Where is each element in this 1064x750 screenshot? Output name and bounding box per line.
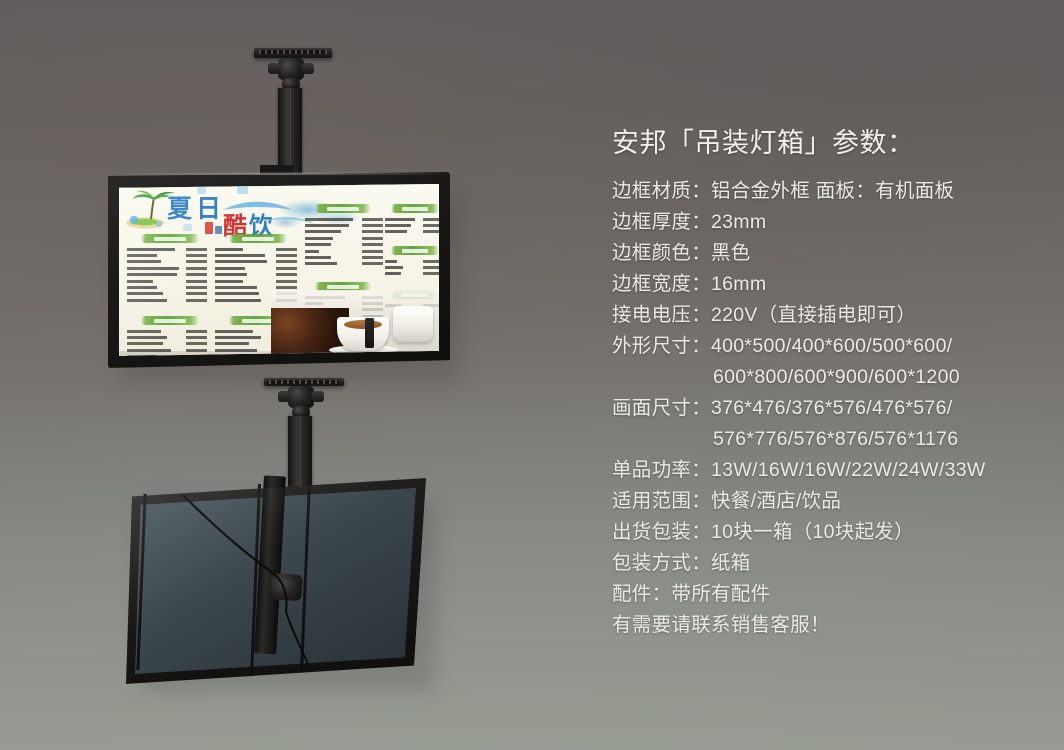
spec-line: 边框厚度：23mm [612, 207, 1052, 238]
section-banner-4b [391, 246, 439, 255]
spec-line: 单品功率：13W/16W/16W/22W/24W/33W [612, 455, 1052, 486]
menu-rows-4b [385, 258, 439, 277]
section-banner-4 [391, 204, 439, 213]
mount-plate-screw-holes [259, 50, 327, 54]
spec-line: 包装方式：纸箱 [612, 548, 1052, 579]
ice-cube-icon-1 [197, 187, 206, 194]
spec-line-list: 边框材质：铝合金外框 面板：有机面板边框厚度：23mm边框颜色：黑色边框宽度：1… [612, 176, 1052, 641]
spec-line: 外形尺寸：400*500/400*600/500*600/ [612, 331, 1052, 362]
coffee-grinder-image [365, 318, 374, 348]
spec-line: 边框颜色：黑色 [612, 238, 1052, 269]
spec-line: 出货包装：10块一箱（10块起发） [612, 517, 1052, 548]
coffee-photo [271, 290, 439, 356]
spec-line: 边框宽度：16mm [612, 269, 1052, 300]
product-photo-canvas: 夏 日 酷 饮 [0, 0, 1064, 750]
ceiling-mounted-lightbox-front: 夏 日 酷 饮 [108, 172, 450, 368]
spec-line: 600*800/600*900/600*1200 [612, 362, 1052, 393]
ice-cube-icon-3 [183, 224, 192, 231]
svg-text:夏: 夏 [167, 194, 193, 223]
menu-row [305, 261, 383, 267]
upper-ceiling-mount [246, 48, 346, 180]
ceiling-mount-plate [254, 48, 332, 58]
spec-title: 安邦「吊装灯箱」参数： [612, 126, 1052, 160]
menu-rows-1 [127, 246, 207, 304]
swivel-joint-wing-right [302, 63, 314, 74]
menu-row [385, 271, 439, 277]
svg-text:日: 日 [196, 194, 221, 223]
spec-line: 配件：带所有配件 [612, 579, 1052, 610]
menu-row [385, 229, 439, 235]
spec-panel: 安邦「吊装灯箱」参数： 边框材质：铝合金外框 面板：有机面板边框厚度：23mm边… [612, 126, 1052, 641]
spec-line: 边框材质：铝合金外框 面板：有机面板 [612, 176, 1052, 207]
lower-tilt-knuckle [269, 573, 303, 601]
menu-rows-4 [385, 216, 439, 235]
section-banner-5 [141, 316, 199, 325]
spec-line: 画面尺寸：376*476/376*576/476*576/ [612, 393, 1052, 424]
ceiling-mounted-lightbox-back [126, 478, 426, 684]
lower-mount-plate-screw-holes [269, 380, 339, 384]
section-banner-2 [229, 234, 287, 243]
menu-rows-3 [305, 216, 383, 267]
lower-swivel-wing-right [312, 391, 324, 402]
swivel-joint-head [278, 58, 304, 80]
ice-cube-icon-2 [237, 186, 248, 194]
menu-poster: 夏 日 酷 饮 [119, 184, 439, 356]
menu-row [127, 297, 207, 303]
section-banner-1 [141, 234, 199, 243]
menu-headline-art: 夏 日 酷 饮 [165, 192, 325, 238]
spec-line: 适用范围：快餐/酒店/饮品 [612, 486, 1052, 517]
swivel-joint-wing-left [268, 63, 280, 74]
milk-pitcher-image [393, 306, 433, 342]
lower-swivel-joint-head [288, 386, 314, 408]
lightbox-menu-panel: 夏 日 酷 饮 [119, 184, 439, 356]
lower-swivel-wing-left [278, 391, 290, 402]
lower-mount-plate [264, 378, 344, 386]
spec-line: 有需要请联系销售客服！ [612, 610, 1052, 641]
section-banner-3 [315, 204, 371, 213]
spec-line: 接电电压：220V（直接插电即可） [612, 300, 1052, 331]
coffee-cup-image [337, 317, 389, 351]
spec-line: 576*776/576*876/576*1176 [612, 424, 1052, 455]
